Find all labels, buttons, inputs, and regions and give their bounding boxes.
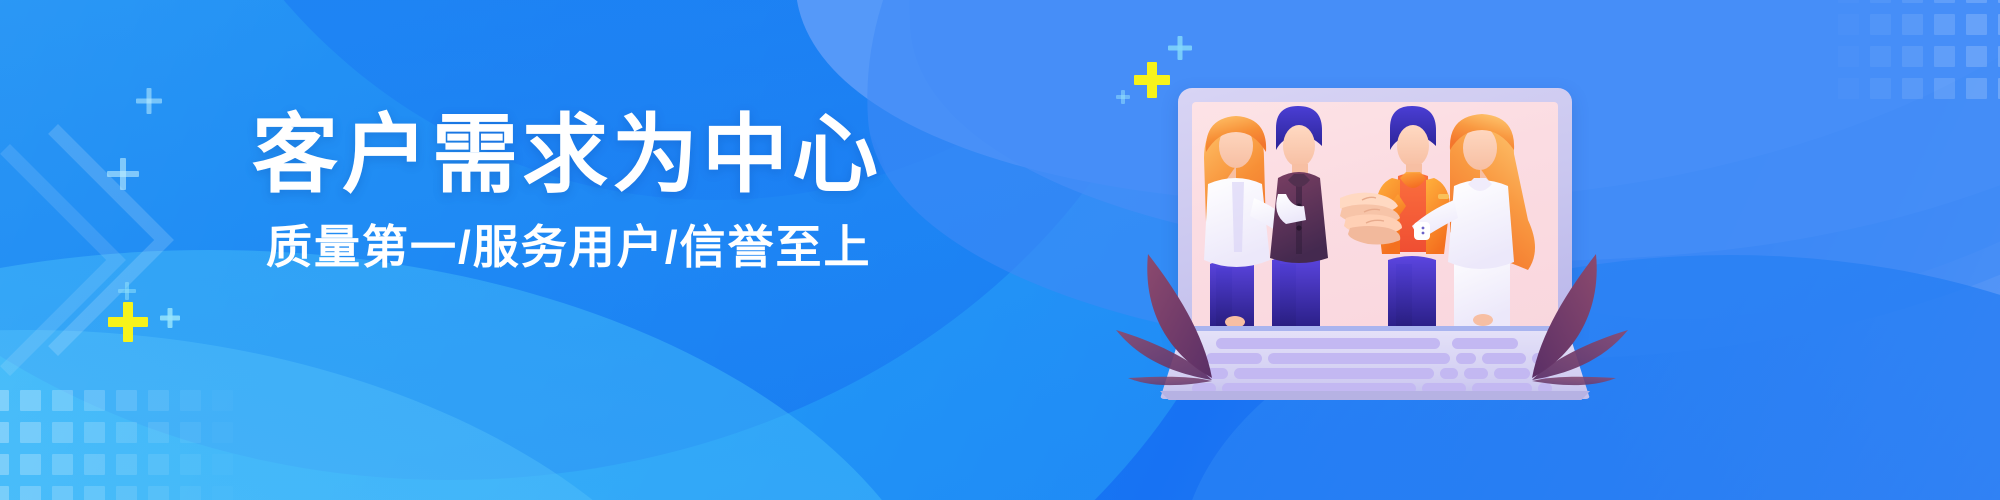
banner-subheadline: 质量第一/服务用户/信誉至上: [266, 224, 882, 270]
hands-stack: [1340, 193, 1402, 245]
grid-dot: [0, 422, 9, 443]
grid-dot: [116, 390, 137, 411]
keyboard-key: [1464, 368, 1488, 379]
grid-dot: [1870, 46, 1891, 67]
grid-dot: [84, 422, 105, 443]
leaf-decoration-left: [1112, 238, 1232, 388]
grid-dot: [1934, 78, 1955, 99]
cross-cyan-mid-left-icon: [107, 158, 139, 190]
keyboard-key: [1268, 353, 1450, 364]
grid-dot: [20, 486, 41, 500]
cross-cyan-dot-right-icon: [1116, 90, 1130, 104]
grid-dot: [1838, 46, 1859, 67]
grid-dot: [52, 422, 73, 443]
grid-dot: [212, 486, 233, 500]
grid-dot: [1966, 78, 1987, 99]
grid-dot: [1902, 78, 1923, 99]
grid-dot: [0, 454, 9, 475]
grid-dot: [20, 390, 41, 411]
grid-dot: [1966, 0, 1987, 3]
keyboard-key: [1456, 353, 1476, 364]
teamwork-illustration: [1192, 102, 1558, 328]
grid-dot: [1902, 0, 1923, 3]
grid-dot: [116, 486, 137, 500]
grid-dot: [148, 454, 169, 475]
grid-dot: [1934, 0, 1955, 3]
background-wave-5: [0, 330, 750, 500]
banner-copy-block: 客户需求为中心 质量第一/服务用户/信誉至上: [252, 112, 882, 270]
cross-cyan-upper-left-icon: [136, 88, 162, 114]
laptop-illustration: [1160, 88, 1590, 388]
person-man-left: [1270, 106, 1328, 328]
grid-dot: [0, 486, 9, 500]
grid-dot: [212, 390, 233, 411]
grid-dot: [148, 486, 169, 500]
chevron-arrow-1: [0, 124, 174, 356]
background-wave-4: [0, 250, 960, 500]
grid-dot: [1870, 14, 1891, 35]
grid-dot: [1966, 46, 1987, 67]
grid-dot: [180, 454, 201, 475]
grid-dot: [52, 486, 73, 500]
grid-dot: [84, 486, 105, 500]
grid-dot: [84, 454, 105, 475]
grid-dot: [1902, 46, 1923, 67]
laptop-screen: [1192, 102, 1558, 328]
cross-outline-right-icon: [1168, 36, 1192, 60]
keyboard-key: [1216, 338, 1440, 349]
grid-dot: [180, 486, 201, 500]
grid-dot: [1934, 14, 1955, 35]
grid-dot: [1870, 0, 1891, 3]
grid-dot: [180, 422, 201, 443]
banner-headline: 客户需求为中心: [252, 112, 882, 198]
cross-cyan-tiny-left-icon: [118, 282, 136, 300]
grid-dot: [20, 454, 41, 475]
grid-dot: [84, 390, 105, 411]
grid-dot: [212, 454, 233, 475]
cross-yellow-left-icon: [108, 302, 148, 342]
promotional-banner: 客户需求为中心 质量第一/服务用户/信誉至上: [0, 0, 2000, 500]
grid-dot: [0, 390, 9, 411]
grid-dot: [1838, 0, 1859, 3]
leaf-decoration-right: [1512, 238, 1632, 388]
grid-dot: [52, 454, 73, 475]
grid-dot: [148, 422, 169, 443]
chevron-arrow-2: [0, 144, 126, 376]
keyboard-key: [1452, 338, 1518, 349]
grid-dot: [148, 390, 169, 411]
laptop-base-edge: [1160, 391, 1590, 400]
grid-dot: [116, 422, 137, 443]
grid-dot: [20, 422, 41, 443]
grid-dot: [180, 390, 201, 411]
keyboard-key: [1234, 368, 1434, 379]
grid-dot: [52, 390, 73, 411]
grid-dot: [116, 454, 137, 475]
keyboard-key: [1440, 368, 1458, 379]
grid-dot: [212, 422, 233, 443]
grid-dot: [1934, 46, 1955, 67]
grid-dot: [1838, 14, 1859, 35]
grid-dot: [1870, 78, 1891, 99]
grid-dot: [1902, 14, 1923, 35]
grid-dot: [1966, 14, 1987, 35]
grid-dot: [1838, 78, 1859, 99]
cross-cyan-small-left-icon: [160, 308, 180, 328]
